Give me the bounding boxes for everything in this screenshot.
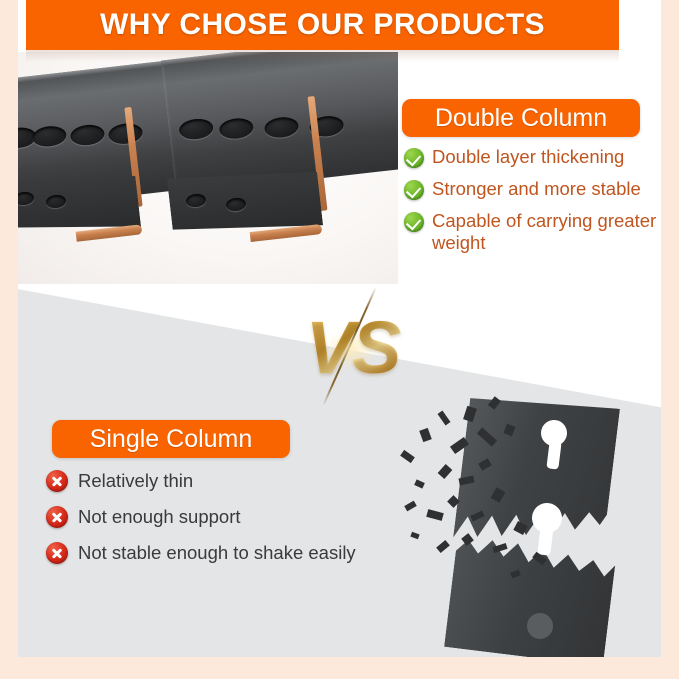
benefit-text: Double layer thickening xyxy=(432,146,624,168)
banner-dropshadow xyxy=(26,50,619,62)
benefit-text: Stronger and more stable xyxy=(432,178,641,200)
double-column-rail-photo xyxy=(18,52,398,284)
list-item: Not stable enough to shake easily xyxy=(46,542,446,564)
infographic-page: VS Double Column Single Column Double la… xyxy=(0,0,679,679)
check-circle-icon xyxy=(404,180,424,200)
badge-single-column-label: Single Column xyxy=(90,425,253,454)
list-item: Not enough support xyxy=(46,506,446,528)
double-column-benefits-list: Double layer thickening Stronger and mor… xyxy=(404,146,661,264)
badge-double-column-label: Double Column xyxy=(435,104,607,133)
drawback-text: Relatively thin xyxy=(78,470,193,492)
header-banner: WHY CHOSE OUR PRODUCTS xyxy=(26,0,619,50)
panel-lower-fragment xyxy=(444,524,618,657)
drawback-text: Not stable enough to shake easily xyxy=(78,542,356,564)
check-circle-icon xyxy=(404,148,424,168)
versus-graphic: VS xyxy=(297,295,407,400)
content-canvas: VS Double Column Single Column Double la… xyxy=(18,0,661,657)
check-circle-icon xyxy=(404,212,424,232)
list-item: Stronger and more stable xyxy=(404,178,661,200)
drawback-text: Not enough support xyxy=(78,506,241,528)
panel-keyhole-slot xyxy=(537,524,554,555)
list-item: Capable of carrying greater weight xyxy=(404,210,661,254)
benefit-text: Capable of carrying greater weight xyxy=(432,210,661,254)
x-circle-icon xyxy=(46,470,68,492)
single-column-drawbacks-list: Relatively thin Not enough support Not s… xyxy=(46,470,446,578)
x-circle-icon xyxy=(46,506,68,528)
page-title: WHY CHOSE OUR PRODUCTS xyxy=(100,8,545,42)
list-item: Double layer thickening xyxy=(404,146,661,168)
versus-label: VS xyxy=(297,295,407,400)
badge-double-column[interactable]: Double Column xyxy=(402,99,640,137)
rail-front xyxy=(161,52,398,195)
badge-single-column[interactable]: Single Column xyxy=(52,420,290,458)
list-item: Relatively thin xyxy=(46,470,446,492)
x-circle-icon xyxy=(46,542,68,564)
